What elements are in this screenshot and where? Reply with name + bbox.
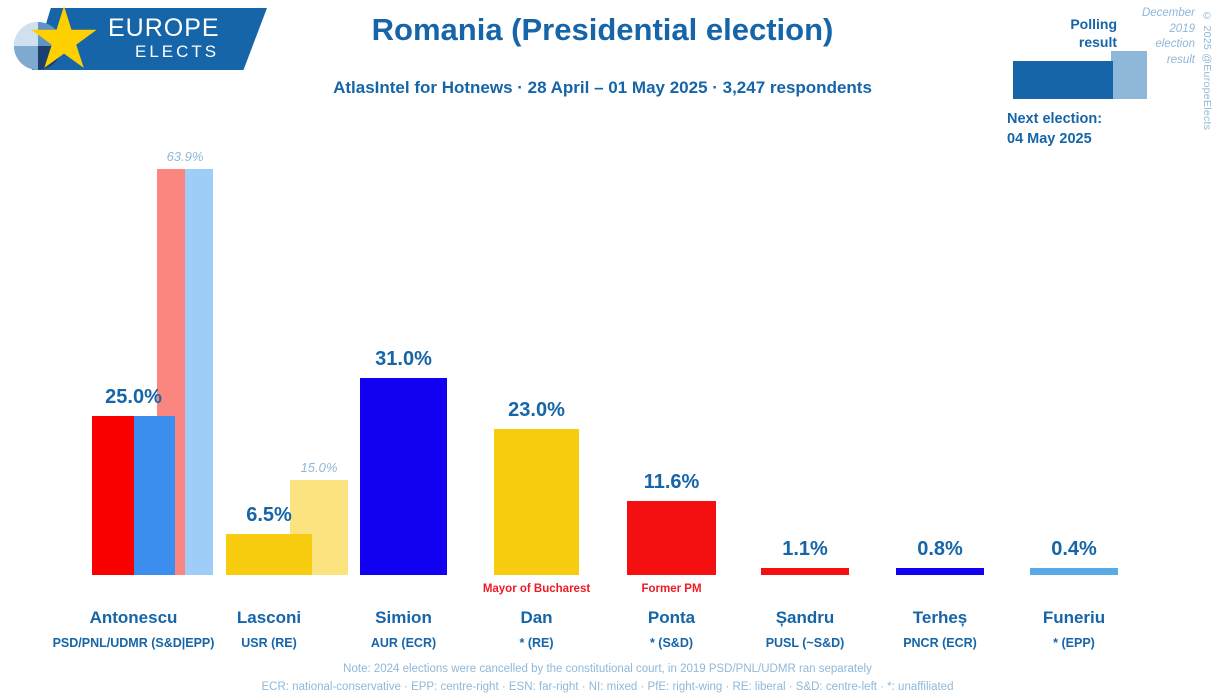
poll-bar-simion xyxy=(360,378,447,575)
candidate-party-funeriu: * (EPP) xyxy=(964,636,1184,650)
value-label-dan: 23.0% xyxy=(457,399,617,422)
logo-text-elects: ELECTS xyxy=(135,42,219,62)
poll-bar-funeriu xyxy=(1030,568,1118,575)
poll-bar-ponta xyxy=(627,501,716,575)
value-label-antonescu: 25.0% xyxy=(54,386,214,409)
poll-bar-șandru xyxy=(761,568,849,575)
bar-chart: 63.9%25.0%AntonescuPSD/PNL/UDMR (S&D|EPP… xyxy=(0,0,1215,700)
candidate-name-funeriu: Funeriu xyxy=(964,608,1184,628)
poll-bar-antonescu xyxy=(134,416,176,575)
value-label-funeriu: 0.4% xyxy=(994,538,1154,561)
value-label-ponta: 11.6% xyxy=(592,471,752,494)
poll-bar-terheș xyxy=(896,568,984,575)
poll-bar-antonescu xyxy=(92,416,134,575)
logo-text-europe: EUROPE xyxy=(108,14,220,43)
poll-bar-dan xyxy=(494,429,579,575)
footer-note: Note: 2024 elections were cancelled by t… xyxy=(0,663,1215,675)
value-label-lasconi: 6.5% xyxy=(189,504,349,527)
previous-result-label-antonescu: 63.9% xyxy=(125,149,245,164)
value-label-simion: 31.0% xyxy=(324,348,484,371)
annotation-ponta: Former PM xyxy=(572,583,772,595)
footer-legend-key: ECR: national-conservative · EPP: centre… xyxy=(0,681,1215,693)
poll-bar-lasconi xyxy=(226,534,312,575)
